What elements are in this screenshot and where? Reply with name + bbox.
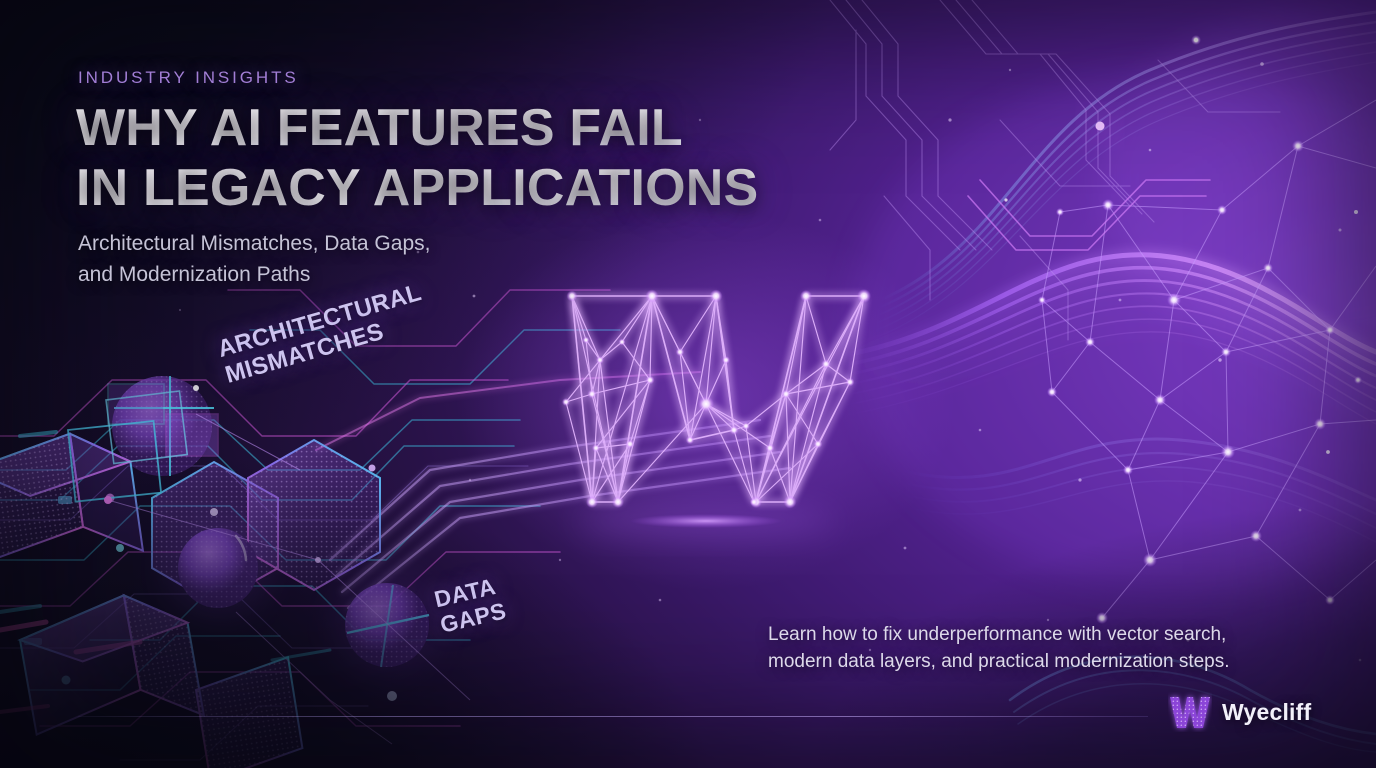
w-monogram-icon — [1168, 692, 1212, 732]
subtitle-line-2: and Modernization Paths — [78, 263, 310, 286]
headline-line-2: IN LEGACY APPLICATIONS — [76, 158, 836, 218]
subtitle: Architectural Mismatches, Data Gaps, and… — [78, 228, 598, 290]
headline-line-1: WHY AI FEATURES FAIL — [76, 98, 836, 158]
brand-lockup[interactable]: Wyecliff — [1168, 692, 1311, 732]
eyebrow-label: INDUSTRY INSIGHTS — [78, 68, 299, 88]
cta-text: Learn how to fix underperformance with v… — [768, 621, 1320, 675]
cta-line-1: Learn how to fix underperformance with v… — [768, 624, 1226, 645]
page-title: WHY AI FEATURES FAIL IN LEGACY APPLICATI… — [76, 98, 836, 218]
subtitle-line-1: Architectural Mismatches, Data Gaps, — [78, 232, 430, 255]
footer-divider — [78, 716, 1148, 717]
callout-data-gaps: DATA GAPS — [432, 573, 509, 638]
callout-architectural-mismatches: ARCHITECTURAL MISMATCHES — [215, 280, 432, 390]
brand-name: Wyecliff — [1222, 699, 1311, 726]
cta-line-2: modern data layers, and practical modern… — [768, 651, 1230, 672]
hero-banner: INDUSTRY INSIGHTS WHY AI FEATURES FAIL I… — [0, 0, 1376, 768]
